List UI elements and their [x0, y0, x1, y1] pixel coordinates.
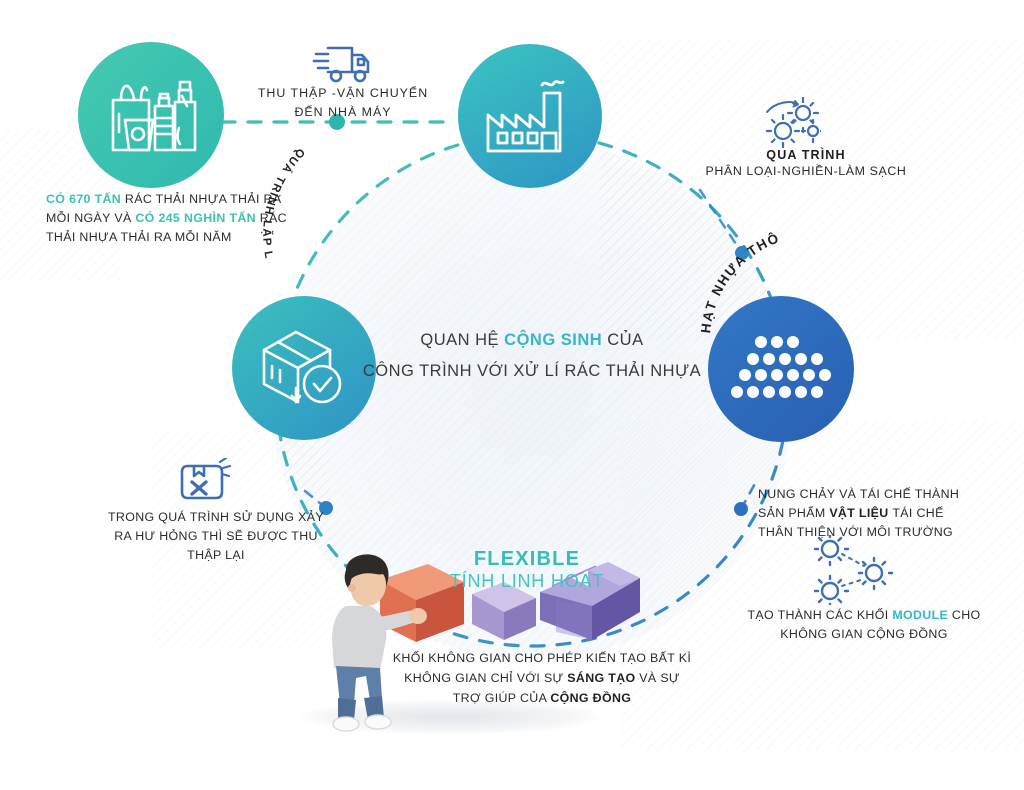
caption-transport-line1: THU THẬP -VẬN CHUYỂN: [254, 84, 432, 103]
broken-box-icon: [176, 458, 232, 508]
caption-modules: TẠO THÀNH CÁC KHỐI MODULE CHO KHÔNG GIAN…: [728, 606, 1000, 644]
caption-melting: NUNG CHẢY VÀ TÁI CHẾ THÀNH SẢN PHẨM VẬT …: [758, 485, 980, 542]
caption-transport: THU THẬP -VẬN CHUYỂN ĐẾN NHÀ MÁY: [254, 84, 432, 122]
stat-670-tan: CÓ 670 TẤN: [46, 192, 125, 206]
center-line1-pre: QUAN HỆ: [420, 331, 504, 349]
factory-icon: [482, 75, 578, 157]
center-headline-line1: QUAN HỆ CỘNG SINH CỦA: [332, 325, 732, 356]
center-line1-post: CỦA: [602, 331, 643, 349]
center-line1-accent: CỘNG SINH: [504, 331, 602, 349]
svg-text:QUÁ TRÌNH LẶP LẠI: QUÁ TRÌNH LẶP LẠI: [250, 140, 307, 261]
node-factory[interactable]: [458, 44, 602, 188]
caption-flexible-bold1: SÁNG TẠO: [567, 671, 635, 685]
caption-sorting: QUA TRÌNH PHÂN LOẠI-NGHIỀN-LÀM SẠCH: [686, 148, 926, 181]
child-figure: [310, 548, 440, 732]
caption-melting-bold: VẬT LIỆU: [829, 506, 892, 520]
infographic-canvas: CÓ 670 TẤN RÁC THẢI NHỰA THẢI RA MỖI NGÀ…: [0, 0, 1024, 790]
caption-sorting-line2: PHÂN LOẠI-NGHIỀN-LÀM SẠCH: [686, 162, 926, 181]
gear-network-icon: [812, 535, 898, 605]
delivery-truck-icon: [312, 40, 374, 86]
caption-transport-line2: ĐẾN NHÀ MÁY: [254, 103, 432, 122]
plastic-waste-icon: [103, 72, 199, 158]
center-headline: QUAN HỆ CỘNG SINH CỦA CÔNG TRÌNH VỚI XỬ …: [332, 325, 732, 387]
center-headline-line2: CÔNG TRÌNH VỚI XỬ LÍ RÁC THẢI NHỰA: [332, 356, 732, 387]
flexible-label: FLEXIBLE TÍNH LINH HOẠT: [432, 548, 622, 592]
caption-damage: TRONG QUÁ TRÌNH SỬ DỤNG XẢY RA HƯ HỎNG T…: [100, 508, 332, 565]
gears-icon: [757, 96, 821, 148]
caption-flexible-bold2: CỘNG ĐỒNG: [550, 691, 631, 705]
stat-245-nghin-tan: CÓ 245 NGHÌN TẤN: [135, 211, 259, 225]
caption-modules-part1: TẠO THÀNH CÁC KHỐI: [748, 608, 893, 622]
curved-label-repeat-process: QUÁ TRÌNH LẶP LẠI: [250, 140, 380, 320]
flexible-subtitle: TÍNH LINH HOẠT: [432, 571, 622, 592]
svg-text:HẠT NHỰA THÔ: HẠT NHỰA THÔ: [698, 230, 782, 334]
flexible-title: FLEXIBLE: [432, 548, 622, 571]
caption-modules-accent: MODULE: [892, 608, 948, 622]
caption-sorting-title: QUA TRÌNH: [686, 148, 926, 162]
node-plastic-waste[interactable]: [78, 42, 224, 188]
